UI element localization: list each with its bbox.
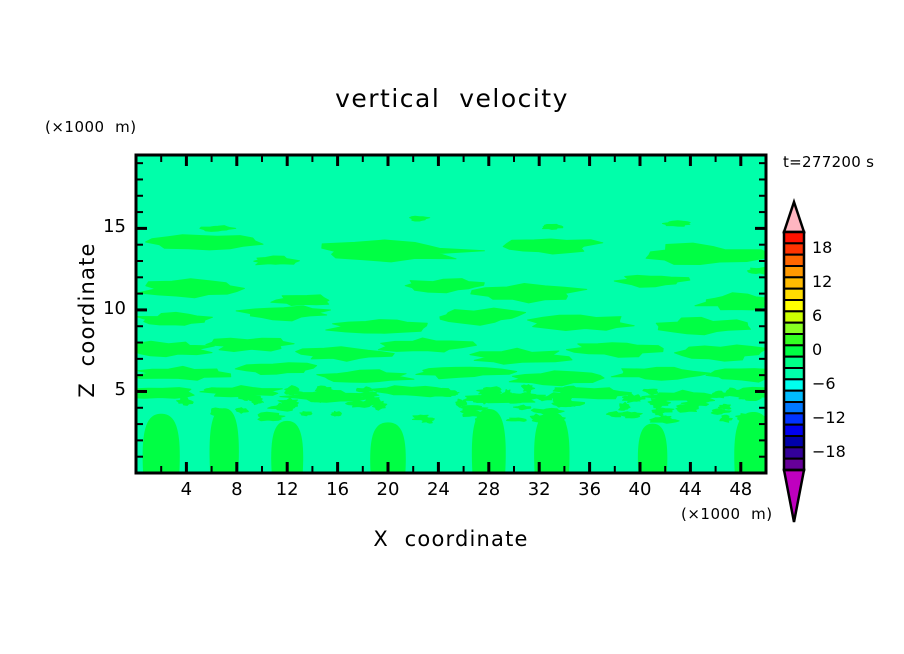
x-tick-label: 44: [670, 479, 710, 500]
colorbar-tick-label: 18: [812, 238, 832, 257]
colorbar-band: [784, 232, 804, 243]
colorbar-band: [784, 447, 804, 458]
colorbar-tick-label: −18: [812, 442, 846, 461]
colorbar-band: [784, 436, 804, 447]
colorbar-tick-label: −12: [812, 408, 846, 427]
x-tick-label: 28: [469, 479, 509, 500]
colorbar-under-arrow: [784, 470, 804, 522]
contour-plot: [0, 0, 904, 654]
colorbar-tick-label: 0: [812, 340, 822, 359]
x-tick-label: 20: [368, 479, 408, 500]
speckle: [507, 418, 527, 421]
x-tick-label: 16: [318, 479, 358, 500]
colorbar-band: [784, 289, 804, 300]
colorbar-band: [784, 311, 804, 322]
y-tick-label: 5: [96, 379, 126, 400]
colorbar-band: [784, 425, 804, 436]
x-tick-label: 48: [721, 479, 761, 500]
colorbar-band: [784, 266, 804, 277]
colorbar-band: [784, 345, 804, 356]
x-tick-label: 4: [166, 479, 206, 500]
y-tick-label: 10: [96, 298, 126, 319]
contour-field: [123, 155, 778, 483]
figure-canvas: vertical velocity (×1000 m) t=277200 s (…: [0, 0, 904, 654]
colorbar-band: [784, 459, 804, 470]
colorbar-tick-label: 6: [812, 306, 822, 325]
x-tick-label: 36: [570, 479, 610, 500]
colorbar-band: [784, 391, 804, 402]
x-tick-label: 40: [620, 479, 660, 500]
x-tick-label: 32: [519, 479, 559, 500]
colorbar: [784, 202, 804, 522]
colorbar-band: [784, 402, 804, 413]
colorbar-band: [784, 413, 804, 424]
speckle: [422, 418, 434, 423]
colorbar-band: [784, 357, 804, 368]
y-tick-label: 15: [96, 216, 126, 237]
speckle: [718, 404, 731, 409]
colorbar-band: [784, 243, 804, 254]
colorbar-band: [784, 300, 804, 311]
colorbar-band: [784, 323, 804, 334]
colorbar-band: [784, 334, 804, 345]
x-tick-label: 8: [217, 479, 257, 500]
colorbar-over-arrow: [784, 202, 804, 232]
colorbar-band: [784, 368, 804, 379]
x-tick-label: 24: [418, 479, 458, 500]
colorbar-tick-label: 12: [812, 272, 832, 291]
colorbar-tick-label: −6: [812, 374, 836, 393]
colorbar-band: [784, 379, 804, 390]
x-tick-label: 12: [267, 479, 307, 500]
colorbar-band: [784, 277, 804, 288]
speckle: [252, 399, 261, 404]
colorbar-band: [784, 255, 804, 266]
